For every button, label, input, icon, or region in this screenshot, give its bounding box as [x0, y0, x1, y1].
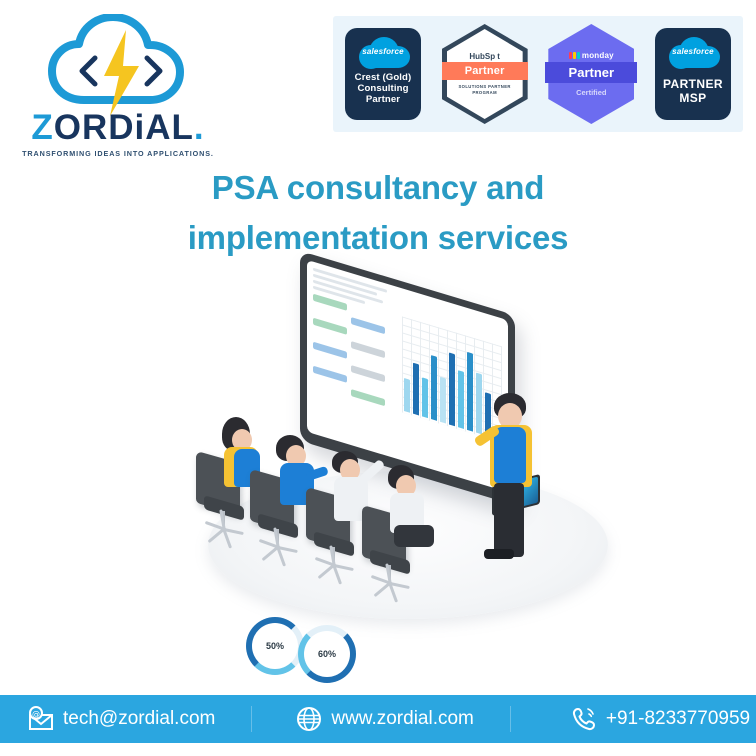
chart-bar — [404, 378, 410, 413]
badge-line-2: Consulting — [355, 83, 412, 94]
chart-bar — [458, 370, 464, 429]
cloud-code-bolt-icon — [46, 14, 196, 118]
contact-footer-bar: @ tech@zordial.com www.zordial.com — [0, 695, 756, 743]
badge-band-label: Partner — [545, 62, 637, 83]
headline-line-2: implementation services — [78, 213, 678, 263]
screen-donut-gauges: 50% 60% — [246, 617, 356, 669]
hubspot-wordmark: HubSp t — [469, 52, 500, 61]
monday-wordmark: monday — [582, 51, 614, 60]
chair-base-icon — [256, 539, 300, 557]
logo-letters-rest: ORDiAL — [54, 108, 194, 147]
badge-band-label: Partner — [442, 62, 528, 80]
footer-email-text: tech@zordial.com — [63, 708, 215, 730]
brand-logo: ZORDiAL. TRANSFORMING IDEAS INTO APPLICA… — [18, 14, 218, 162]
chair-base-icon — [202, 521, 246, 539]
audience-person-with-laptop — [378, 465, 438, 551]
salesforce-cloud-icon: salesforce — [357, 35, 409, 69]
badge-salesforce-crest-gold: salesforce Crest (Gold) Consulting Partn… — [345, 28, 421, 120]
presenter-figure — [480, 393, 550, 583]
chart-bar — [431, 355, 437, 421]
brand-tagline: TRANSFORMING IDEAS INTO APPLICATIONS. — [18, 149, 218, 158]
badge-hubspot-partner: HubSp t Partner SOLUTIONS PARTNER PROGRA… — [442, 24, 528, 124]
boardroom-illustration: 50% 60% — [150, 275, 610, 675]
badge-line-1: PARTNER — [663, 77, 723, 91]
chart-bar — [413, 363, 419, 416]
salesforce-wordmark: salesforce — [667, 47, 719, 56]
footer-divider — [251, 706, 252, 732]
svg-text:@: @ — [32, 710, 40, 719]
chart-bar — [440, 377, 446, 424]
badge-sub-line-2: PROGRAM — [458, 90, 510, 96]
headline-line-1: PSA consultancy and — [78, 163, 678, 213]
chart-bar — [449, 352, 455, 426]
badge-salesforce-partner-msp: salesforce PARTNER MSP — [655, 28, 731, 120]
footer-website-text: www.zordial.com — [331, 708, 474, 730]
monday-dots-icon — [569, 52, 580, 59]
chair-base-icon — [368, 575, 412, 593]
footer-phone[interactable]: +91-8233770959 — [571, 706, 750, 732]
footer-email[interactable]: @ tech@zordial.com — [28, 706, 215, 732]
chart-bar — [467, 352, 473, 432]
donut-left: 50% — [246, 617, 304, 675]
logo-period: . — [194, 108, 205, 147]
globe-icon — [296, 706, 322, 732]
badge-line-3: Partner — [355, 94, 412, 105]
logo-letter-z: Z — [31, 108, 53, 147]
brand-wordmark: ZORDiAL. TRANSFORMING IDEAS INTO APPLICA… — [18, 110, 218, 158]
footer-divider — [510, 706, 511, 732]
donut-right: 60% — [298, 625, 356, 683]
partner-badge-strip: salesforce Crest (Gold) Consulting Partn… — [333, 16, 743, 132]
salesforce-cloud-icon: salesforce — [667, 35, 719, 69]
poster-canvas: ZORDiAL. TRANSFORMING IDEAS INTO APPLICA… — [0, 0, 756, 756]
screen-flowchart — [313, 268, 399, 454]
badge-sub-label: Certified — [576, 88, 606, 97]
hubspot-sprocket-icon: HubSp t — [469, 52, 500, 61]
footer-phone-text: +91-8233770959 — [606, 708, 750, 730]
chair-base-icon — [312, 557, 356, 575]
badge-monday-partner: monday Partner Certified — [548, 24, 634, 124]
chart-bar — [422, 377, 428, 418]
salesforce-wordmark: salesforce — [357, 47, 409, 56]
badge-line-2: MSP — [663, 91, 723, 105]
page-title: PSA consultancy and implementation servi… — [78, 163, 678, 263]
phone-ringing-icon — [571, 706, 597, 732]
badge-line-1: Crest (Gold) — [355, 72, 412, 83]
footer-website[interactable]: www.zordial.com — [296, 706, 474, 732]
envelope-at-icon: @ — [28, 706, 54, 732]
